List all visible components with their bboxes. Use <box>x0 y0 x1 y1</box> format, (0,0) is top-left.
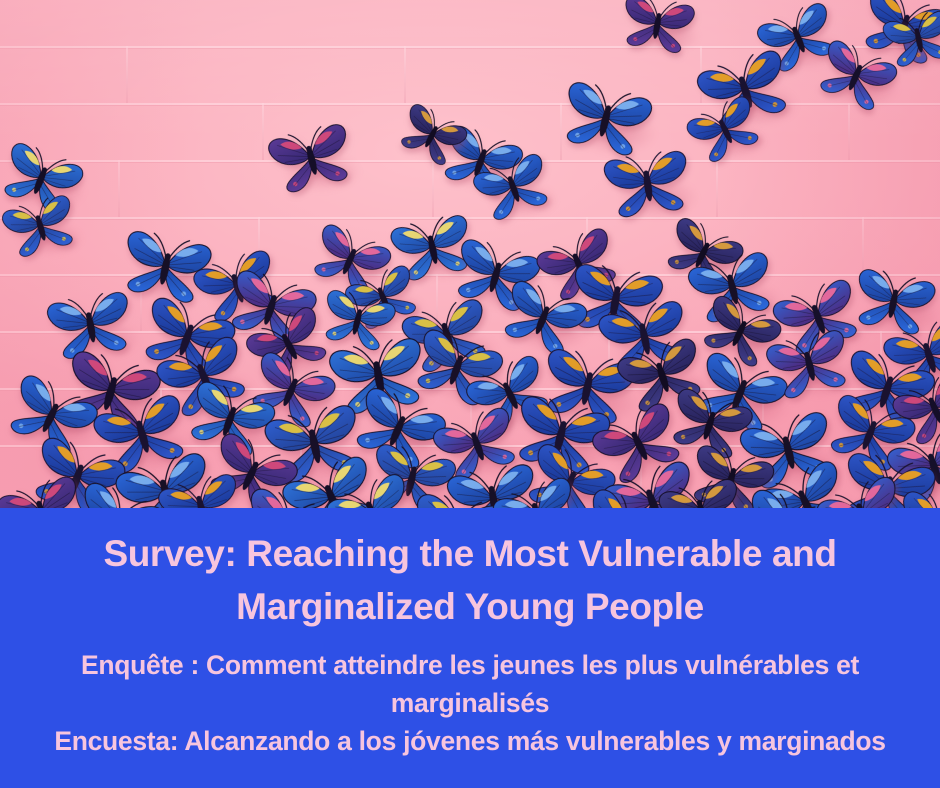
subtitle-group: Enquête : Comment atteindre les jeunes l… <box>0 647 940 761</box>
butterfly-wall-photo <box>0 0 940 508</box>
subtitle-french: Enquête : Comment atteindre les jeunes l… <box>0 647 940 723</box>
page-title: Survey: Reaching the Most Vulnerable and… <box>0 508 940 633</box>
caption-banner: Survey: Reaching the Most Vulnerable and… <box>0 508 940 788</box>
subtitle-spanish: Encuesta: Alcanzando a los jóvenes más v… <box>0 723 940 761</box>
poster: Survey: Reaching the Most Vulnerable and… <box>0 0 940 788</box>
